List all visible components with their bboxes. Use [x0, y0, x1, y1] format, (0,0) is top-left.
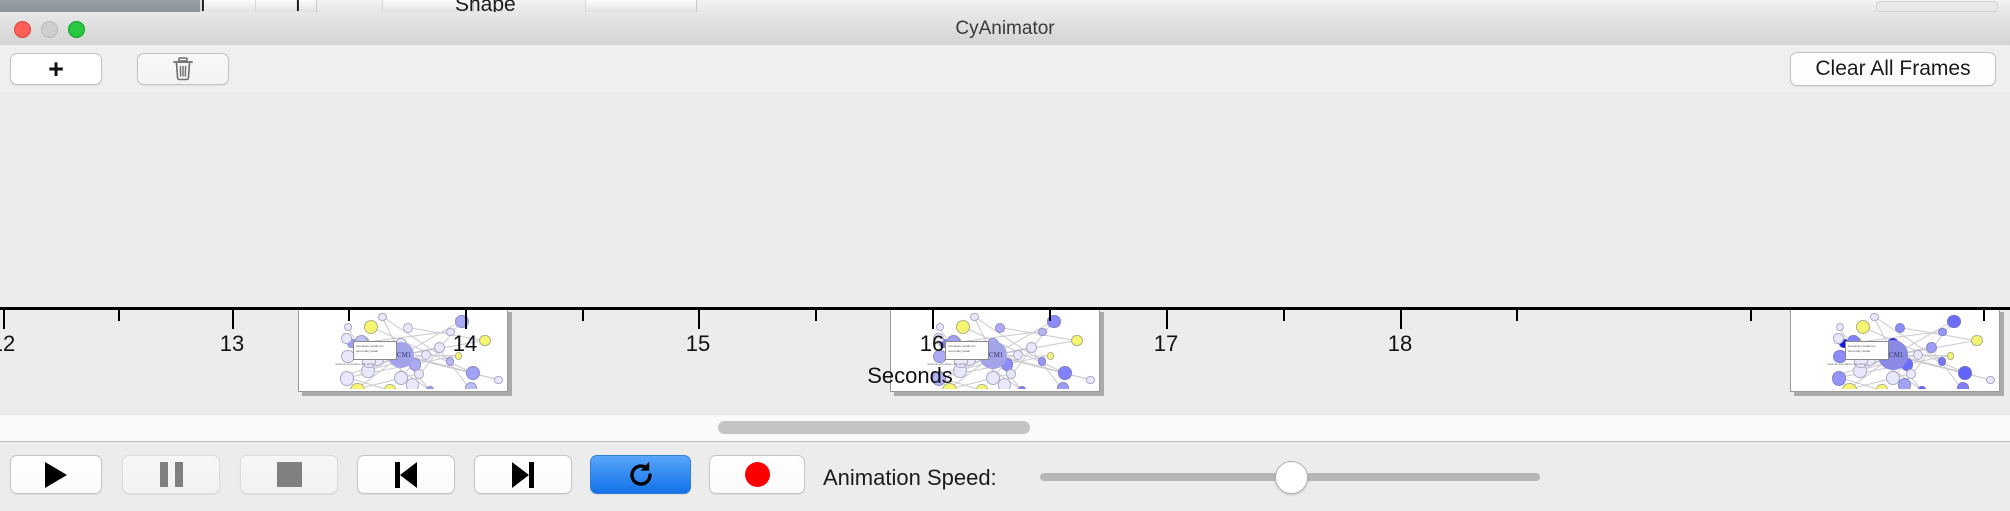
axis-tick-label: 13 [220, 331, 244, 357]
trash-icon [172, 57, 194, 81]
axis-tick-minor [815, 310, 817, 321]
timeline-axis: 12131415161718 Seconds [0, 307, 2010, 414]
skip-end-button[interactable] [474, 455, 572, 494]
axis-tick-minor [118, 310, 120, 321]
animation-speed-slider[interactable] [1040, 473, 1540, 481]
clear-all-frames-button[interactable]: Clear All Frames [1790, 52, 1996, 86]
axis-tick-minor [1516, 310, 1518, 321]
axis-tick-major [1400, 310, 1402, 329]
skip-forward-icon [512, 462, 534, 488]
stop-icon [277, 462, 302, 487]
skip-start-button[interactable] [357, 455, 455, 494]
plus-icon: + [48, 56, 64, 83]
axis-tick-major [932, 310, 934, 329]
timeline-panel[interactable]: MCM1interaction detail rowsecondary deta… [0, 92, 2010, 414]
slider-thumb[interactable] [1275, 461, 1308, 494]
record-button[interactable] [709, 455, 805, 494]
axis-tick-label: 17 [1154, 331, 1178, 357]
background-scrollbar[interactable] [1876, 1, 1998, 12]
frames-layer: MCM1interaction detail rowsecondary deta… [0, 92, 2010, 307]
axis-tick-minor [1750, 310, 1752, 321]
title-bar: CyAnimator [0, 12, 2010, 46]
axis-tick-label: 16 [920, 331, 944, 357]
axis-title-label: Seconds [867, 363, 953, 388]
transport-bar: Animation Speed: [0, 441, 2010, 511]
axis-tick-label: 18 [1388, 331, 1412, 357]
clear-all-frames-label: Clear All Frames [1815, 57, 1970, 81]
pause-button[interactable] [122, 455, 220, 494]
timeline-scrollbar[interactable] [0, 414, 2010, 442]
background-tab [585, 0, 697, 12]
delete-frame-button[interactable] [137, 53, 229, 85]
animation-speed-label: Animation Speed: [823, 465, 997, 491]
axis-tick-label: 14 [453, 331, 477, 357]
pause-icon [160, 462, 183, 487]
axis-tick-major [3, 310, 5, 329]
loop-icon [626, 460, 656, 490]
stop-button[interactable] [240, 455, 338, 494]
skip-backward-icon [395, 462, 417, 488]
axis-tick-minor [1983, 310, 1985, 321]
play-icon [45, 462, 67, 488]
window-title: CyAnimator [0, 12, 2010, 45]
loop-button[interactable] [590, 455, 691, 494]
axis-tick-minor [1283, 310, 1285, 321]
record-icon [745, 462, 770, 487]
cyanimator-window: I I Shape CyAnimator + Clea [0, 0, 2010, 510]
axis-tick-major [465, 310, 467, 329]
axis-line [0, 307, 2010, 310]
add-frame-button[interactable]: + [10, 53, 102, 85]
timeline-scrollbar-thumb[interactable] [718, 421, 1030, 434]
axis-tick-label: 12 [0, 331, 15, 357]
axis-title: Seconds [0, 363, 2010, 389]
play-button[interactable] [10, 455, 102, 494]
axis-tick-major [232, 310, 234, 329]
axis-tick-major [698, 310, 700, 329]
axis-tick-minor [348, 310, 350, 321]
axis-tick-label: 15 [686, 331, 710, 357]
axis-tick-minor [1049, 310, 1051, 321]
axis-tick-major [1166, 310, 1168, 329]
axis-tick-minor [582, 310, 584, 321]
toolbar: + Clear All Frames [0, 45, 2010, 93]
background-tab [255, 0, 317, 12]
background-window-dark-header [0, 0, 200, 12]
background-tab [200, 0, 257, 12]
